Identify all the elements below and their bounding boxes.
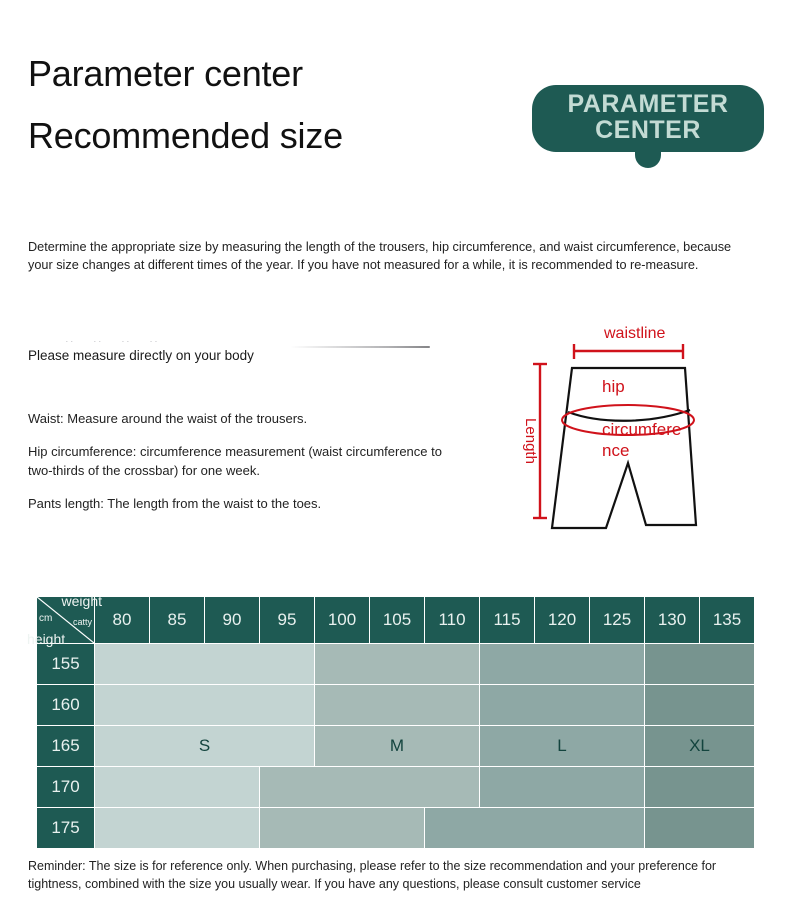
size-guide-page: Parameter center Recommended size PARAME…	[0, 0, 790, 924]
weight-header-100: 100	[315, 597, 370, 644]
weight-header-115: 115	[480, 597, 535, 644]
badge-pointer-tail	[635, 148, 661, 168]
height-header-155: 155	[37, 644, 95, 685]
size-band-m-175	[260, 808, 425, 849]
table-corner-cell: weight catty cm height	[37, 597, 95, 644]
weight-header-110: 110	[425, 597, 480, 644]
size-band-s-165: S	[95, 726, 315, 767]
size-band-s-160	[95, 685, 315, 726]
waistline-label: waistline	[603, 325, 665, 342]
size-band-xl-155	[645, 644, 755, 685]
size-band-l-155	[480, 644, 645, 685]
size-band-xl-160	[645, 685, 755, 726]
table-row: 160	[37, 685, 755, 726]
weight-header-90: 90	[205, 597, 260, 644]
weight-header-95: 95	[260, 597, 315, 644]
corner-height-unit: cm	[39, 613, 52, 624]
size-table-body: 155160165SMLXL170175	[37, 644, 755, 849]
shorts-measurement-diagram: waistline Length hip circumfere nce	[500, 320, 790, 555]
size-band-xl-175	[645, 808, 755, 849]
height-header-170: 170	[37, 767, 95, 808]
badge-bubble: PARAMETER CENTER	[532, 85, 764, 152]
size-chart-table: weight catty cm height 80 85 90 95 100 1…	[36, 596, 755, 849]
weight-header-105: 105	[370, 597, 425, 644]
corner-weight-label: weight	[62, 593, 102, 609]
measure-heading: Please measure directly on your body	[28, 348, 254, 363]
weight-header-85: 85	[150, 597, 205, 644]
size-band-m-160	[315, 685, 480, 726]
weight-header-125: 125	[590, 597, 645, 644]
size-band-m-165: M	[315, 726, 480, 767]
length-label: Length	[522, 418, 539, 464]
size-band-xl-170	[645, 767, 755, 808]
circumference-label-line-1: circumfere	[602, 420, 681, 439]
size-band-l-170	[480, 767, 645, 808]
height-header-175: 175	[37, 808, 95, 849]
measure-item-length: Pants length: The length from the waist …	[28, 495, 458, 513]
table-row: 175	[37, 808, 755, 849]
size-band-s-175	[95, 808, 260, 849]
weight-header-135: 135	[700, 597, 755, 644]
table-row: 165SMLXL	[37, 726, 755, 767]
parameter-center-badge: PARAMETER CENTER	[532, 85, 764, 152]
size-band-xl-165: XL	[645, 726, 755, 767]
reminder-footer: Reminder: The size is for reference only…	[28, 858, 758, 894]
size-band-s-170	[95, 767, 260, 808]
circumference-label-line-2: nce	[602, 441, 629, 460]
artifact-stroke	[290, 346, 430, 348]
corner-height-label: height	[27, 631, 65, 647]
measure-instructions: Waist: Measure around the waist of the t…	[28, 410, 458, 514]
page-title-line-1: Parameter center	[28, 56, 468, 92]
waistline-arrow	[574, 344, 683, 359]
measure-item-hip: Hip circumference: circumference measure…	[28, 443, 458, 480]
measure-item-waist: Waist: Measure around the waist of the t…	[28, 410, 458, 428]
corner-weight-unit: catty	[73, 617, 92, 627]
size-band-l-165: L	[480, 726, 645, 767]
weight-header-130: 130	[645, 597, 700, 644]
weight-header-120: 120	[535, 597, 590, 644]
size-band-m-170	[260, 767, 480, 808]
weight-header-80: 80	[95, 597, 150, 644]
size-band-l-160	[480, 685, 645, 726]
badge-line-1: PARAMETER	[542, 92, 754, 118]
table-row: 170	[37, 767, 755, 808]
height-header-160: 160	[37, 685, 95, 726]
badge-line-2: CENTER	[542, 118, 754, 144]
table-row: 155	[37, 644, 755, 685]
size-table-wrapper: weight catty cm height 80 85 90 95 100 1…	[36, 596, 754, 849]
page-title: Parameter center Recommended size	[28, 56, 468, 154]
table-header-row: weight catty cm height 80 85 90 95 100 1…	[37, 597, 755, 644]
hip-label: hip	[602, 377, 625, 396]
intro-paragraph: Determine the appropriate size by measur…	[28, 238, 756, 275]
height-header-165: 165	[37, 726, 95, 767]
page-title-line-2: Recommended size	[28, 118, 468, 154]
size-band-m-155	[315, 644, 480, 685]
size-band-l-175	[425, 808, 645, 849]
size-band-s-155	[95, 644, 315, 685]
